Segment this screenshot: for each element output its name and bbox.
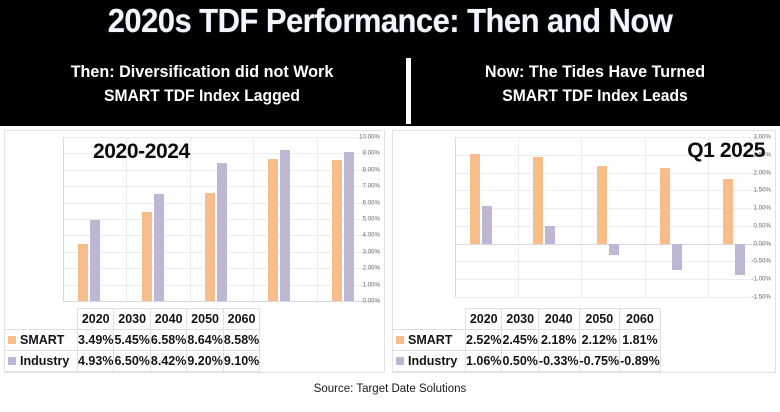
table-corner-cell: [5, 309, 78, 330]
right-chart-title: Q1 2025: [687, 139, 765, 163]
bar-smart-2060: [723, 179, 733, 243]
bar-industry-2030: [154, 194, 164, 301]
cell-industry-2060: 9.10%: [223, 351, 259, 372]
column-header-2040: 2040: [538, 309, 579, 330]
bar-industry-2040: [217, 163, 227, 301]
page-title: 2020s TDF Performance: Then and Now: [23, 2, 756, 40]
table-row: SMART2.52%2.45%2.18%2.12%1.81%: [393, 330, 660, 351]
cell-industry-2060: -0.89%: [620, 351, 661, 372]
source-note: Source: Target Date Solutions: [0, 383, 780, 395]
bar-industry-2030: [545, 226, 555, 244]
right-subheading-line1: Now: The Tides Have Turned: [423, 60, 767, 85]
bar-industry-2060: [344, 152, 354, 301]
left-subheading-line1: Then: Diversification did not Work: [14, 60, 390, 85]
bar-smart-2040: [205, 193, 215, 301]
y-axis-tick-label: 0.50%: [709, 222, 775, 229]
category-separator: [518, 137, 519, 297]
column-header-2020: 2020: [466, 309, 502, 330]
bar-industry-2050: [280, 150, 290, 301]
cell-industry-2030: 0.50%: [502, 351, 538, 372]
left-subheading: Then: Diversification did not Work SMART…: [14, 60, 390, 109]
bar-smart-2030: [142, 212, 152, 301]
legend-item-smart: SMART: [393, 330, 466, 351]
table-header-row: 20202030204020502060: [5, 309, 260, 330]
category-separator: [645, 137, 646, 297]
category-separator: [317, 137, 318, 301]
left-data-table: 20202030204020502060SMART3.49%5.45%6.58%…: [5, 308, 260, 372]
category-separator: [581, 137, 582, 297]
bar-smart-2060: [332, 160, 342, 301]
column-header-2050: 2050: [187, 309, 223, 330]
table-row: Industry1.06%0.50%-0.33%-0.75%-0.89%: [393, 351, 660, 372]
bar-industry-2020: [90, 220, 100, 301]
legend-swatch-smart-icon: [396, 336, 404, 344]
bar-industry-2040: [609, 244, 619, 256]
cell-smart-2030: 5.45%: [114, 330, 150, 351]
cell-smart-2020: 3.49%: [78, 330, 114, 351]
cell-smart-2040: 2.18%: [538, 330, 579, 351]
legend-item-smart: SMART: [5, 330, 78, 351]
bar-industry-2060: [735, 244, 745, 276]
cell-smart-2020: 2.52%: [466, 330, 502, 351]
y-axis-tick-label: 10.00%: [322, 134, 384, 141]
cell-industry-2050: 9.20%: [187, 351, 223, 372]
legend-label: Industry: [20, 354, 69, 368]
y-axis-tick-label: 2.00%: [709, 169, 775, 176]
cell-industry-2030: 6.50%: [114, 351, 150, 372]
legend-label: SMART: [20, 333, 64, 347]
cell-smart-2060: 1.81%: [620, 330, 661, 351]
table-row: SMART3.49%5.45%6.58%8.64%8.58%: [5, 330, 260, 351]
bar-industry-2050: [672, 244, 682, 271]
legend-label: SMART: [408, 333, 452, 347]
cell-industry-2040: 8.42%: [150, 351, 186, 372]
y-axis-tick-label: -1.50%: [709, 294, 775, 301]
bar-smart-2050: [268, 159, 278, 301]
column-header-2030: 2030: [114, 309, 150, 330]
column-header-2060: 2060: [223, 309, 259, 330]
y-axis-tick-label: -1.00%: [709, 276, 775, 283]
y-axis-line: [455, 137, 456, 297]
right-chart-panel: Q1 2025 3.00%2.50%2.00%1.50%1.00%0.50%0.…: [392, 130, 776, 373]
cell-industry-2020: 1.06%: [466, 351, 502, 372]
legend-item-industry: Industry: [393, 351, 466, 372]
cell-smart-2030: 2.45%: [502, 330, 538, 351]
y-axis-line: [63, 137, 64, 301]
left-chart-title: 2020-2024: [93, 140, 190, 164]
bar-industry-2020: [482, 206, 492, 244]
cell-smart-2060: 8.58%: [223, 330, 259, 351]
legend-swatch-industry-icon: [396, 357, 404, 365]
bar-smart-2040: [597, 166, 607, 244]
column-header-2020: 2020: [78, 309, 114, 330]
legend-swatch-industry-icon: [8, 357, 16, 365]
bar-smart-2030: [533, 157, 543, 244]
header-divider: [406, 58, 411, 124]
bar-smart-2020: [78, 244, 88, 301]
cell-industry-2020: 4.93%: [78, 351, 114, 372]
left-bar-chart: 10.00%9.00%8.00%7.00%6.00%5.00%4.00%3.00…: [5, 131, 384, 303]
table-corner-cell: [393, 309, 466, 330]
right-subheading: Now: The Tides Have Turned SMART TDF Ind…: [423, 60, 767, 109]
cell-smart-2050: 2.12%: [579, 330, 620, 351]
y-axis-tick-label: 1.50%: [709, 187, 775, 194]
header-band: 2020s TDF Performance: Then and Now Then…: [0, 0, 780, 126]
left-subheading-line2: SMART TDF Index Lagged: [14, 85, 390, 109]
legend-swatch-smart-icon: [8, 336, 16, 344]
cell-smart-2040: 6.58%: [150, 330, 186, 351]
right-subheading-line2: SMART TDF Index Leads: [423, 85, 767, 109]
left-chart-panel: 2020-2024 10.00%9.00%8.00%7.00%6.00%5.00…: [4, 130, 385, 373]
bar-smart-2050: [660, 168, 670, 243]
y-axis-tick-label: 1.00%: [709, 205, 775, 212]
cell-industry-2040: -0.33%: [538, 351, 579, 372]
bar-smart-2020: [470, 154, 480, 244]
category-separator: [253, 137, 254, 301]
column-header-2040: 2040: [150, 309, 186, 330]
legend-label: Industry: [408, 354, 457, 368]
column-header-2060: 2060: [620, 309, 661, 330]
right-data-table: 20202030204020502060SMART2.52%2.45%2.18%…: [393, 308, 661, 372]
table-header-row: 20202030204020502060: [393, 309, 660, 330]
legend-item-industry: Industry: [5, 351, 78, 372]
cell-smart-2050: 8.64%: [187, 330, 223, 351]
cell-industry-2050: -0.75%: [579, 351, 620, 372]
column-header-2030: 2030: [502, 309, 538, 330]
column-header-2050: 2050: [579, 309, 620, 330]
table-row: Industry4.93%6.50%8.42%9.20%9.10%: [5, 351, 260, 372]
